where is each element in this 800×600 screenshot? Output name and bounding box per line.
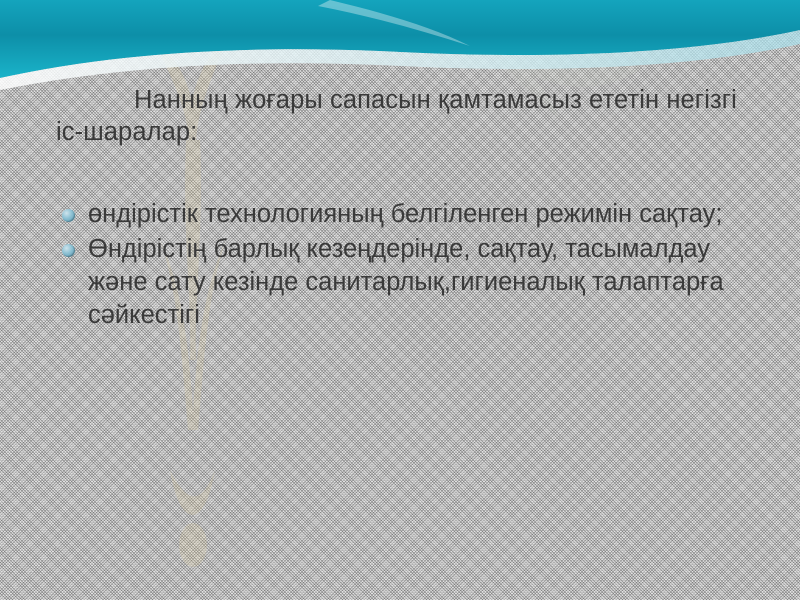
list-item: өндірістік технологияның белгіленген реж…: [52, 198, 752, 231]
list-item-text: өндірістік технологияның белгіленген реж…: [88, 198, 752, 231]
list-item-text: Өндірістің барлық кезеңдерінде, сақтау, …: [88, 233, 752, 332]
list-item: Өндірістің барлық кезеңдерінде, сақтау, …: [52, 233, 752, 332]
bullet-dot-icon: [62, 209, 75, 222]
slide-canvas: Нанның жоғары сапасын қамтамасыз ететін …: [0, 0, 800, 600]
slide-title: Нанның жоғары сапасын қамтамасыз ететін …: [56, 84, 756, 148]
bullet-list: өндірістік технологияның белгіленген реж…: [52, 198, 752, 334]
slide-content: Нанның жоғары сапасын қамтамасыз ететін …: [0, 0, 800, 600]
bullet-dot-icon: [62, 244, 75, 257]
